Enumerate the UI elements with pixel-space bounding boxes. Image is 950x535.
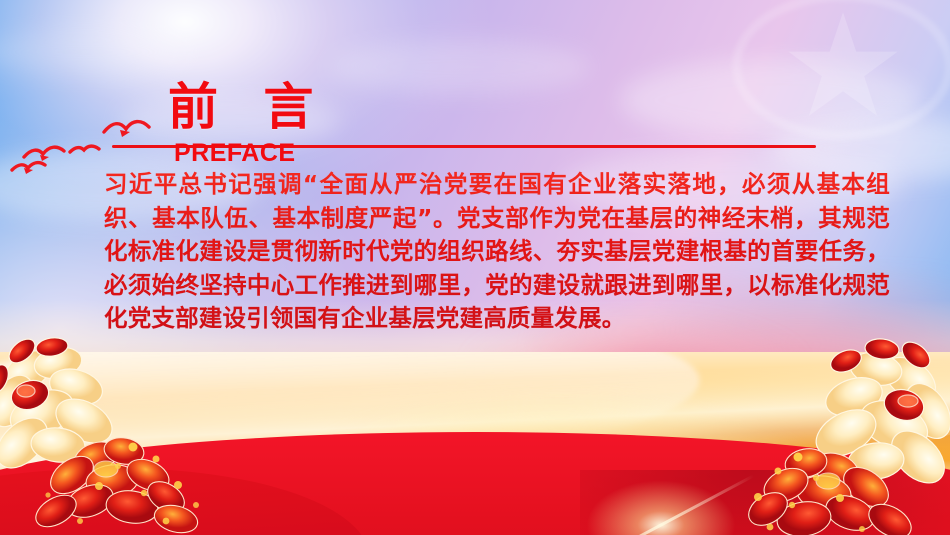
page-title-en: PREFACE	[174, 141, 296, 166]
page-title-cn: 前 言	[168, 82, 327, 132]
preface-slide: 前 言 PREFACE 习近平总书记强调“全面从严治党要在国有企业落实落地，必须…	[0, 0, 950, 535]
star-watermark-icon	[732, 0, 950, 140]
peony-flowers-right	[750, 335, 950, 535]
light-flare	[586, 480, 736, 535]
peony-flowers-left	[0, 335, 215, 535]
preface-body-text: 习近平总书记强调“全面从严治党要在国有企业落实落地，必须从基本组织、基本队伍、基…	[104, 168, 890, 336]
cloud	[330, 40, 590, 94]
